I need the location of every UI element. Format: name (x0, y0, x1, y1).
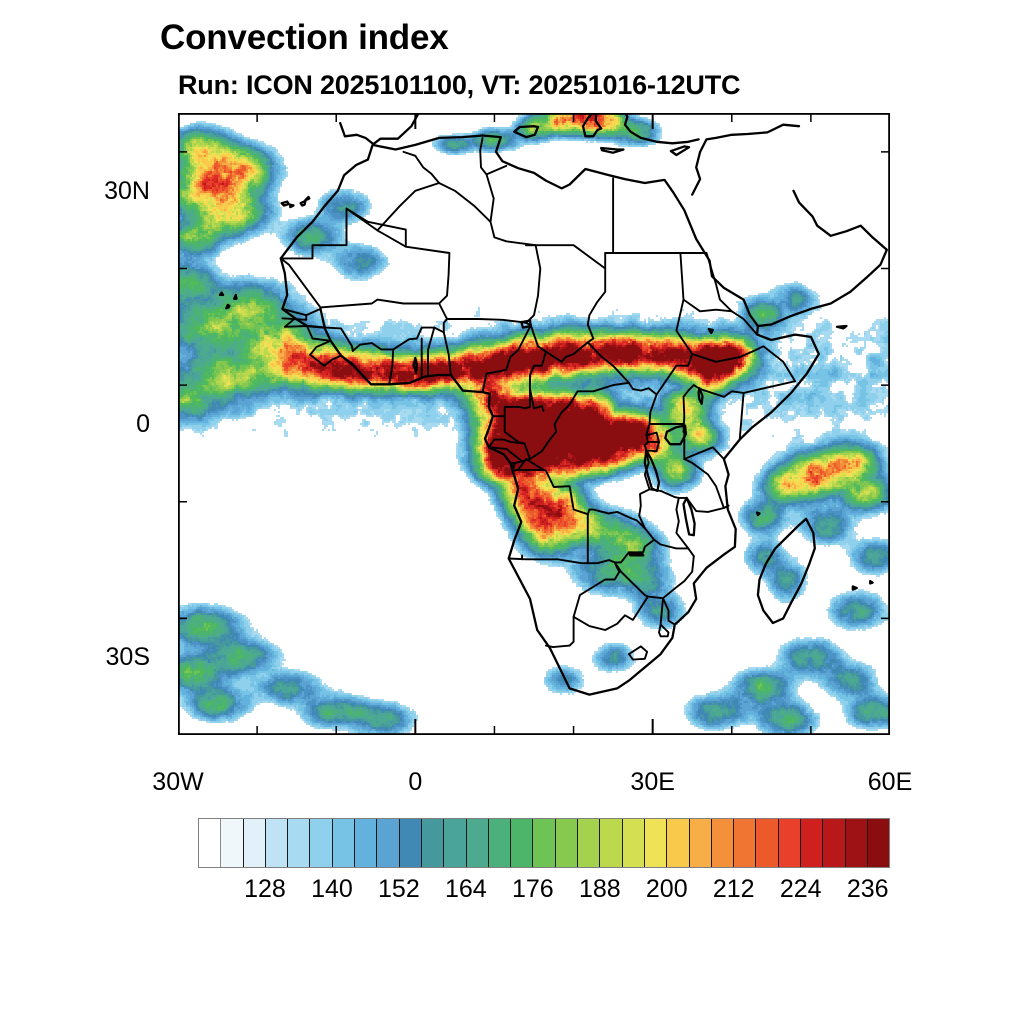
colorbar-cell-24 (734, 819, 756, 867)
colorbar-cell-27 (801, 819, 823, 867)
colorbar-cell-20 (645, 819, 667, 867)
colorbar-cell-23 (712, 819, 734, 867)
colorbar-cell-6 (333, 819, 355, 867)
run-subtitle: Run: ICON 2025101100, VT: 20251016-12UTC (178, 70, 740, 101)
colorbar-tick-212: 212 (713, 875, 755, 904)
y-tick-label-30S: 30S (60, 643, 150, 672)
y-tick-label-0: 0 (60, 410, 150, 439)
colorbar-cell-26 (779, 819, 801, 867)
colorbar-tick-188: 188 (579, 875, 621, 904)
colorbar-tick-labels: 128140152164176188200212224236 (198, 875, 890, 915)
figure-canvas: Convection index Run: ICON 2025101100, V… (0, 0, 1024, 1024)
colorbar-cell-8 (377, 819, 399, 867)
colorbar (198, 818, 890, 868)
colorbar-tick-176: 176 (512, 875, 554, 904)
colorbar-tick-128: 128 (244, 875, 286, 904)
colorbar-cell-16 (556, 819, 578, 867)
page-title: Convection index (160, 18, 449, 58)
colorbar-cell-17 (578, 819, 600, 867)
colorbar-tick-236: 236 (847, 875, 889, 904)
colorbar-cell-7 (355, 819, 377, 867)
x-tick-label-60E: 60E (868, 768, 912, 797)
colorbar-cell-19 (623, 819, 645, 867)
colorbar-tick-164: 164 (445, 875, 487, 904)
colorbar-cell-30 (868, 819, 889, 867)
colorbar-cell-3 (266, 819, 288, 867)
colorbar-cell-22 (690, 819, 712, 867)
colorbar-cell-0 (199, 819, 221, 867)
colorbar-cell-4 (288, 819, 310, 867)
colorbar-cell-21 (667, 819, 689, 867)
map-plot-area (178, 113, 890, 735)
y-tick-label-30N: 30N (60, 177, 150, 206)
colorbar-cell-12 (467, 819, 489, 867)
colorbar-cell-5 (310, 819, 332, 867)
colorbar-cell-15 (533, 819, 555, 867)
colorbar-tick-224: 224 (780, 875, 822, 904)
x-tick-label-30E: 30E (630, 768, 674, 797)
colorbar-cell-2 (244, 819, 266, 867)
x-tick-label-30W: 30W (152, 768, 203, 797)
colorbar-cell-18 (600, 819, 622, 867)
colorbar-cell-29 (846, 819, 868, 867)
colorbar-cell-28 (823, 819, 845, 867)
colorbar-cell-25 (756, 819, 778, 867)
colorbar-tick-140: 140 (311, 875, 353, 904)
colorbar-cell-13 (489, 819, 511, 867)
colorbar-cell-14 (511, 819, 533, 867)
colorbar-cells (198, 818, 890, 868)
colorbar-cell-10 (422, 819, 444, 867)
x-tick-label-0: 0 (408, 768, 422, 797)
colorbar-cell-11 (444, 819, 466, 867)
colorbar-tick-200: 200 (646, 875, 688, 904)
colorbar-cell-1 (221, 819, 243, 867)
colorbar-cell-9 (400, 819, 422, 867)
colorbar-tick-152: 152 (378, 875, 420, 904)
